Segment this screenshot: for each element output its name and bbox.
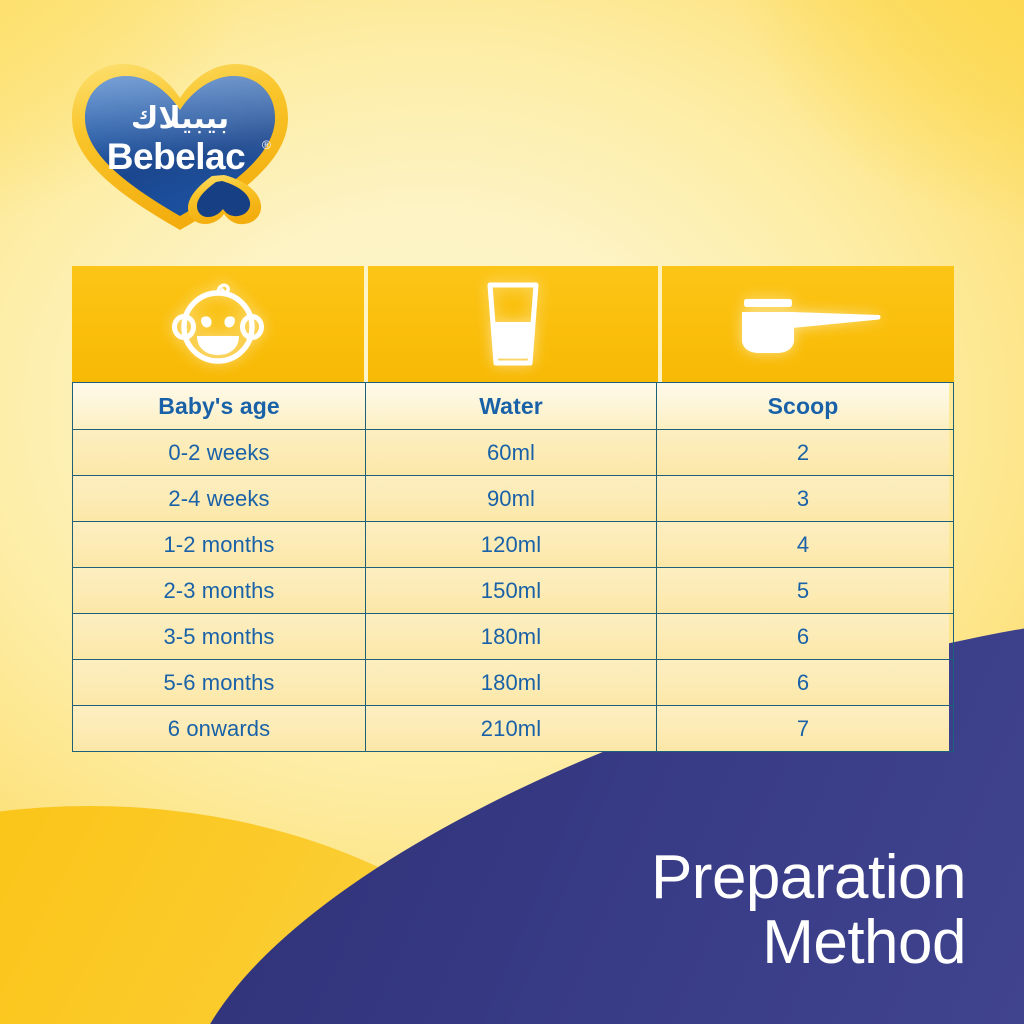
cell-scoop: 4 [656, 522, 949, 567]
column-header-baby-age: Baby's age [73, 383, 365, 429]
logo-registered-mark: ® [262, 138, 271, 152]
preparation-method-poster: بيبيلاك Bebelac ® [0, 0, 1024, 1024]
cell-water: 150ml [365, 568, 656, 613]
cell-water: 180ml [365, 660, 656, 705]
cell-water: 120ml [365, 522, 656, 567]
cell-water: 210ml [365, 706, 656, 751]
icon-cell-baby-age [72, 266, 364, 382]
table-icon-header-row [72, 266, 954, 382]
table-row: 3-5 months 180ml 6 [73, 613, 953, 659]
feeding-guide-table: Baby's age Water Scoop 0-2 weeks 60ml 2 … [72, 266, 954, 752]
table-grid: Baby's age Water Scoop 0-2 weeks 60ml 2 … [72, 382, 954, 752]
icon-cell-water [368, 266, 658, 382]
cell-baby-age: 2-3 months [73, 568, 365, 613]
cell-water: 90ml [365, 476, 656, 521]
table-row: 2-3 months 150ml 5 [73, 567, 953, 613]
preparation-method-title: Preparation Method [406, 845, 966, 975]
table-row: 5-6 months 180ml 6 [73, 659, 953, 705]
logo-latin-wordmark: Bebelac [107, 136, 245, 177]
cell-baby-age: 0-2 weeks [73, 430, 365, 475]
title-line-2: Method [406, 910, 966, 975]
table-row: 1-2 months 120ml 4 [73, 521, 953, 567]
table-header-row: Baby's age Water Scoop [73, 382, 953, 429]
bebelac-logo: بيبيلاك Bebelac ® [66, 56, 294, 236]
cell-scoop: 3 [656, 476, 949, 521]
table-row: 2-4 weeks 90ml 3 [73, 475, 953, 521]
title-line-1: Preparation [406, 845, 966, 910]
cell-baby-age: 2-4 weeks [73, 476, 365, 521]
column-header-scoop: Scoop [656, 383, 949, 429]
cell-scoop: 6 [656, 660, 949, 705]
baby-face-icon [170, 281, 266, 367]
cell-water: 180ml [365, 614, 656, 659]
cell-water: 60ml [365, 430, 656, 475]
water-glass-icon [483, 280, 543, 368]
cell-baby-age: 1-2 months [73, 522, 365, 567]
measuring-scoop-icon [734, 288, 882, 360]
cell-baby-age: 5-6 months [73, 660, 365, 705]
table-row: 0-2 weeks 60ml 2 [73, 429, 953, 475]
cell-scoop: 2 [656, 430, 949, 475]
logo-arabic-wordmark: بيبيلاك [131, 101, 229, 136]
cell-scoop: 7 [656, 706, 949, 751]
cell-baby-age: 3-5 months [73, 614, 365, 659]
column-header-water: Water [365, 383, 656, 429]
cell-baby-age: 6 onwards [73, 706, 365, 751]
icon-cell-scoop [662, 266, 954, 382]
table-row: 6 onwards 210ml 7 [73, 705, 953, 751]
cell-scoop: 5 [656, 568, 949, 613]
cell-scoop: 6 [656, 614, 949, 659]
